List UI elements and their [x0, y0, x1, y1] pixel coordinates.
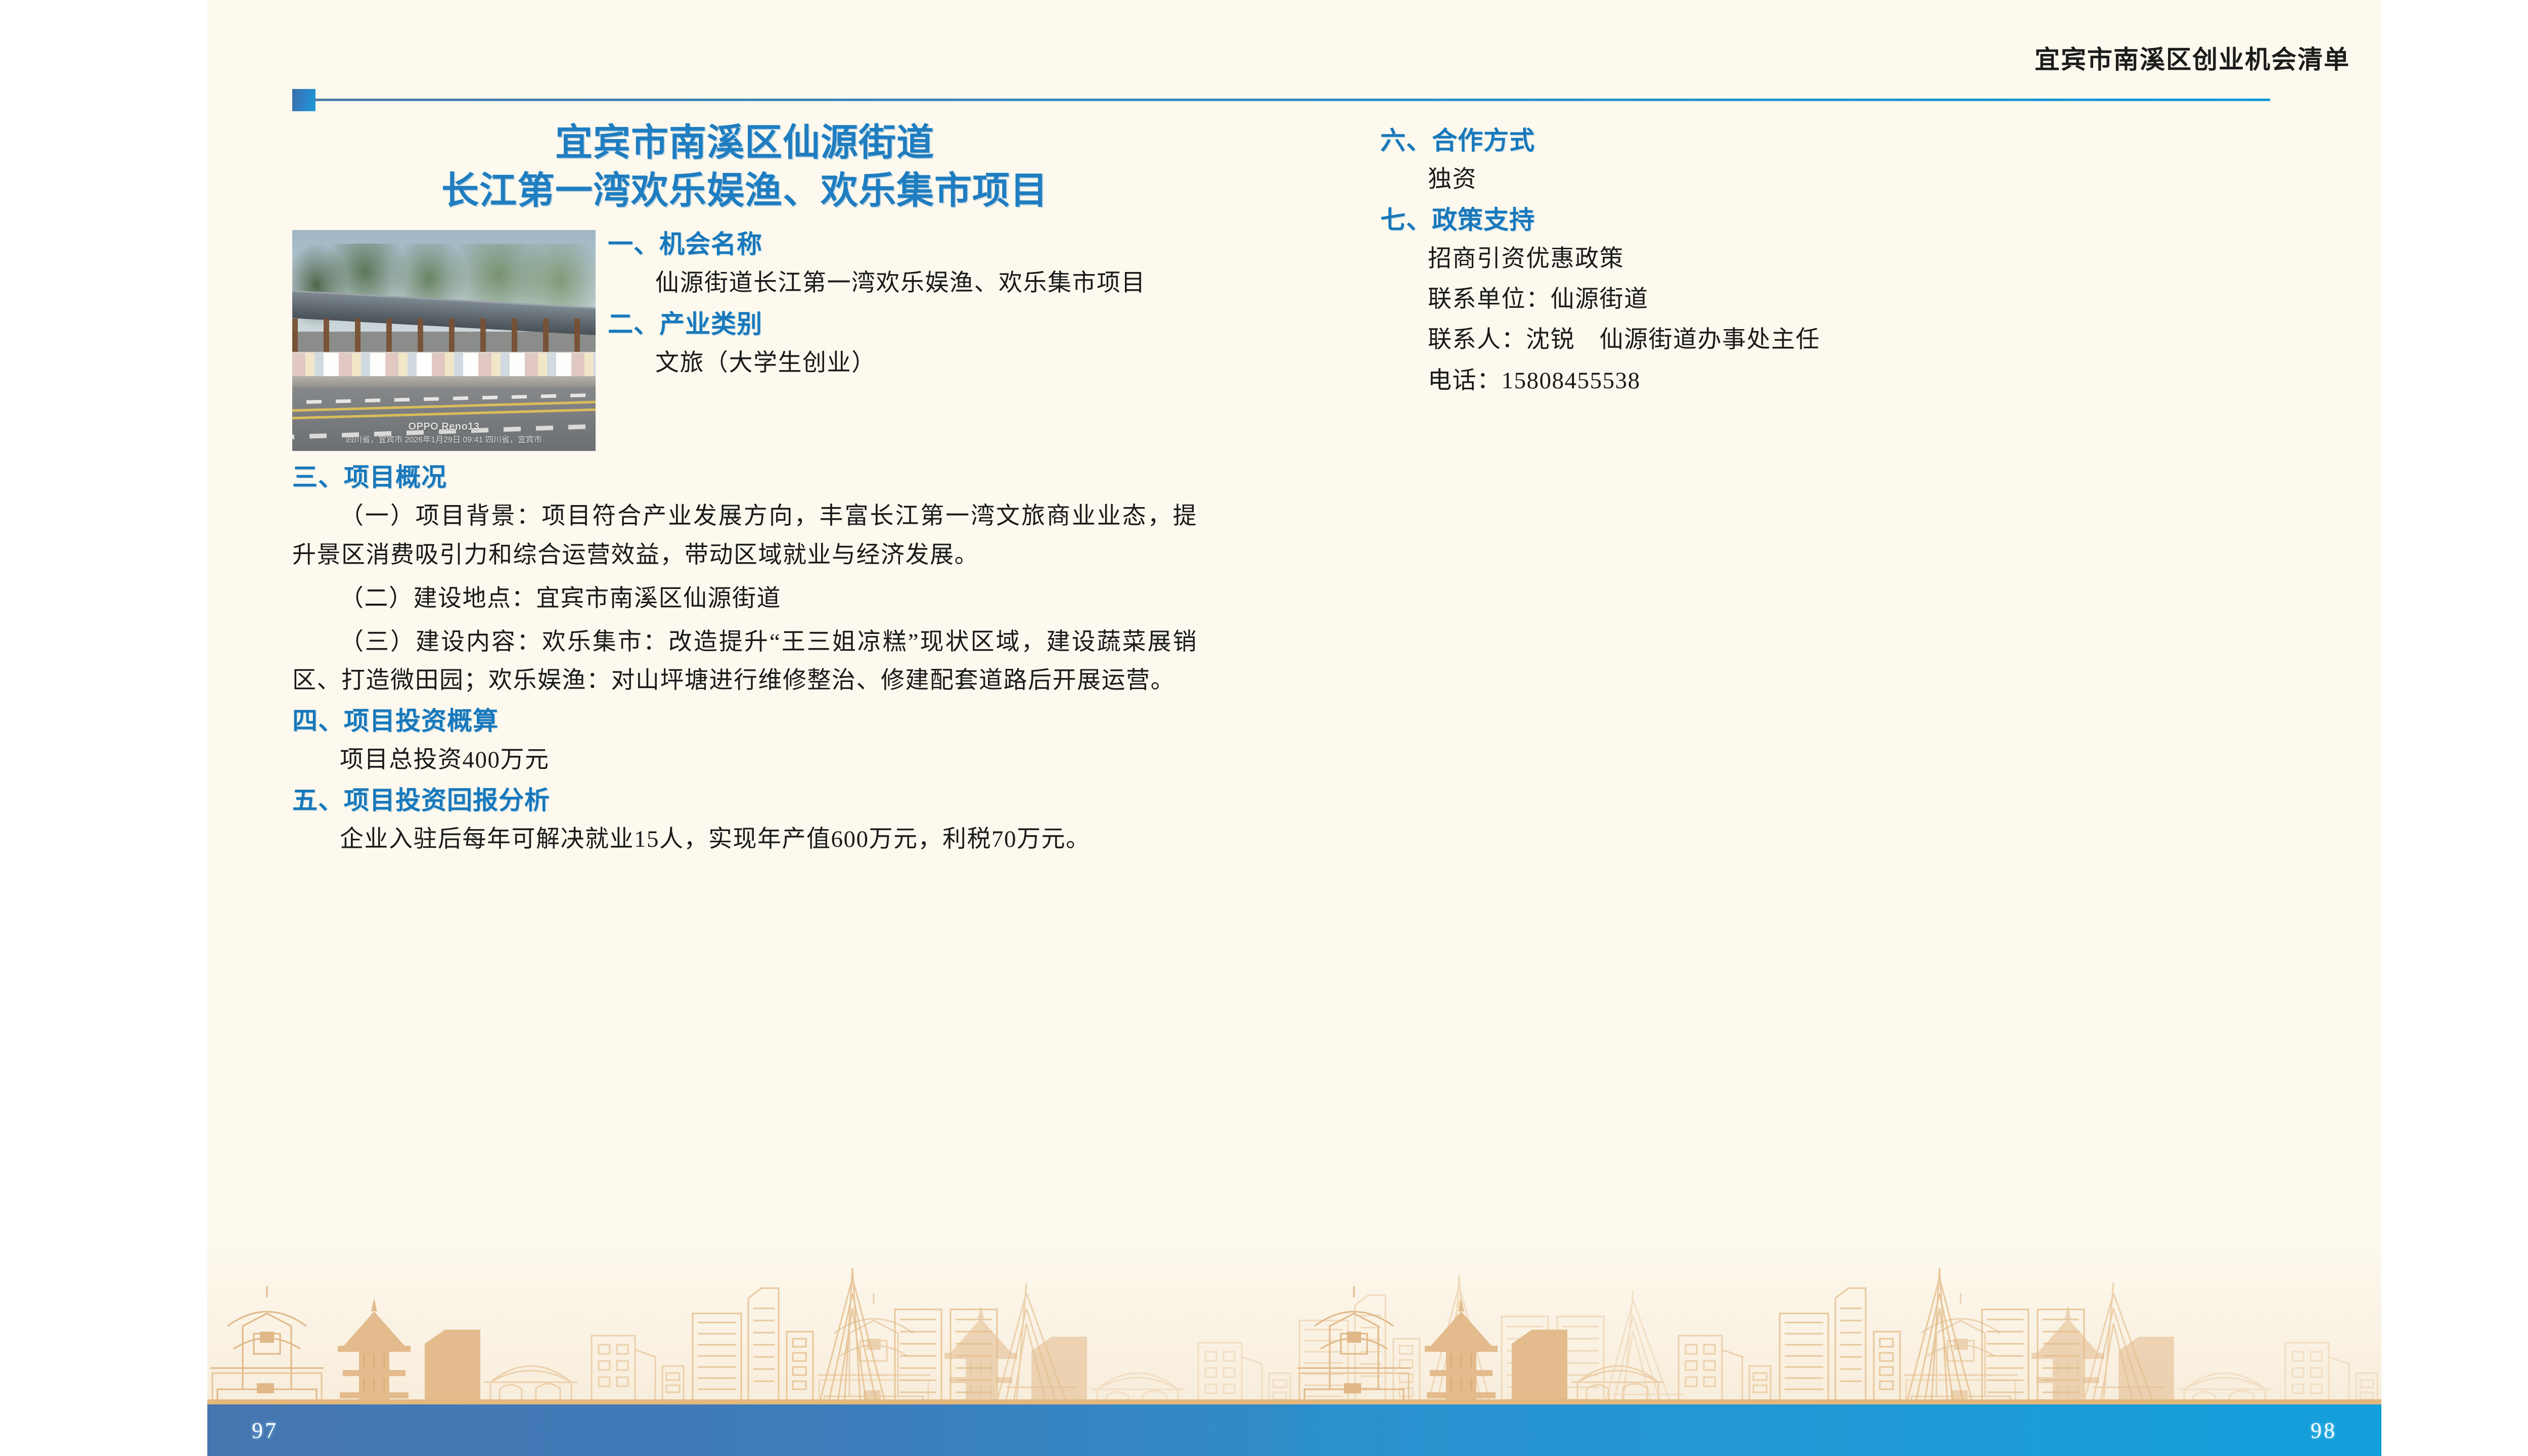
- section-heading-3: 三、项目概况: [292, 461, 1197, 494]
- footer-bar-right: 98: [1294, 1404, 2381, 1456]
- page-number-left: 97: [252, 1418, 278, 1443]
- page-title: 宜宾市南溪区仙源街道 长江第一湾欢乐娱渔、欢乐集市项目: [292, 119, 1197, 215]
- photo-watermark-meta: 四川省，宜宾市 2026年1月29日 09:41 四川省，宜宾市: [292, 433, 596, 445]
- section-body-4: 项目总投资400万元: [292, 741, 1197, 779]
- two-column-body: 宜宾市南溪区仙源街道 长江第一湾欢乐娱渔、欢乐集市项目 OPPO Reno13 …: [207, 119, 2381, 1252]
- right-column: 六、合作方式 独资 七、政策支持 招商引资优惠政策 联系单位：仙源街道 联系人：…: [1380, 119, 2285, 402]
- running-header-title: 宜宾市南溪区创业机会清单: [2035, 39, 2350, 76]
- section-body-6: 独资: [1380, 160, 2285, 199]
- page-title-line1: 宜宾市南溪区仙源街道: [555, 122, 934, 164]
- header-rule: [207, 89, 2381, 104]
- skyline-svg: [207, 1238, 2381, 1404]
- section-3-paragraph-3: （三）建设内容：欢乐集市：改造提升“王三姐凉糕”现状区域，建设蔬菜展销区、打造微…: [292, 623, 1197, 700]
- footer-tan-strip: [207, 1399, 2381, 1404]
- page-number-right: 98: [2311, 1418, 2337, 1443]
- footer-bar-left: 97: [207, 1404, 1294, 1456]
- photo-watermark-device: OPPO Reno13: [292, 421, 596, 433]
- section-body-5: 企业入驻后每年可解决就业15人，实现年产值600万元，利税70万元。: [292, 820, 1197, 858]
- section-heading-6: 六、合作方式: [1380, 124, 2285, 157]
- header-square-marker: [292, 89, 315, 111]
- photo-mural-wall: [292, 352, 596, 379]
- section-heading-7: 七、政策支持: [1380, 204, 2285, 237]
- policy-support-text: 招商引资优惠政策: [1380, 240, 2285, 278]
- footer-skyline-decoration: [207, 1238, 2381, 1404]
- header-divider-line: [314, 99, 2270, 101]
- section-heading-4: 四、项目投资概算: [292, 705, 1197, 738]
- left-column: 宜宾市南溪区仙源街道 长江第一湾欢乐娱渔、欢乐集市项目 OPPO Reno13 …: [292, 119, 1197, 863]
- section-3-paragraph-1: （一）项目背景：项目符合产业发展方向，丰富长江第一湾文旅商业业态，提升景区消费吸…: [292, 497, 1197, 574]
- contact-unit: 联系单位：仙源街道: [1380, 280, 2285, 318]
- project-photo: OPPO Reno13 四川省，宜宾市 2026年1月29日 09:41 四川省…: [292, 230, 596, 451]
- contact-person: 联系人：沈锐 仙源街道办事处主任: [1380, 321, 2285, 359]
- document-page: 宜宾市南溪区创业机会清单 宜宾市南溪区仙源街道 长江第一湾欢乐娱渔、欢乐集市项目: [207, 0, 2381, 1456]
- section-3-paragraph-2: （二）建设地点：宜宾市南溪区仙源街道: [292, 579, 1197, 618]
- section-heading-5: 五、项目投资回报分析: [292, 784, 1197, 817]
- contact-phone: 电话：15808455538: [1380, 361, 2285, 400]
- page-title-line2: 长江第一湾欢乐娱渔、欢乐集市项目: [292, 167, 1197, 215]
